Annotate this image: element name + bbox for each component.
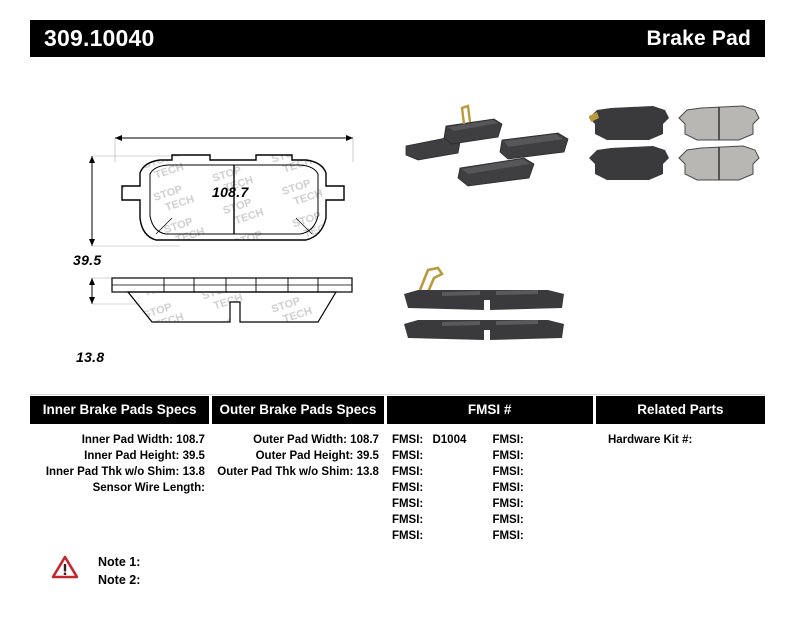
fmsi-value xyxy=(524,530,530,542)
fmsi-row: FMSI: xyxy=(392,512,493,528)
spec-label: Inner Pad Height: xyxy=(84,450,179,462)
fmsi-label: FMSI: xyxy=(492,466,523,478)
fmsi-column-right: FMSI: FMSI: FMSI: FMSI: FMSI: xyxy=(492,432,593,544)
fmsi-value xyxy=(524,450,530,462)
fmsi-row: FMSI: xyxy=(492,512,593,528)
dimension-label-width: 108.7 xyxy=(212,184,249,200)
fmsi-row: FMSI: xyxy=(392,448,493,464)
fmsi-label: FMSI: xyxy=(392,434,423,446)
fmsi-row: FMSI: xyxy=(492,496,593,512)
spec-label: Outer Pad Height: xyxy=(256,450,354,462)
fmsi-row: FMSI: xyxy=(392,464,493,480)
fmsi-row: FMSI: xyxy=(492,528,593,544)
spec-value: 108.7 xyxy=(176,434,205,446)
column-header-outer-specs: Outer Brake Pads Specs xyxy=(212,396,383,424)
notes-section: Note 1: Note 2: xyxy=(52,553,140,589)
fmsi-label: FMSI: xyxy=(392,466,423,478)
notes-text: Note 1: Note 2: xyxy=(98,553,140,589)
spec-row: Inner Pad Width: 108.7 xyxy=(30,432,205,448)
table-top-divider xyxy=(30,394,765,395)
fmsi-value xyxy=(524,466,530,478)
fmsi-row: FMSI: xyxy=(492,480,593,496)
spec-row: Outer Pad Width: 108.7 xyxy=(212,432,379,448)
fmsi-label: FMSI: xyxy=(392,450,423,462)
spec-label: Inner Pad Thk w/o Shim: xyxy=(46,466,180,478)
fmsi-value xyxy=(423,530,429,542)
side-view-drawing xyxy=(60,260,405,355)
fmsi-column-left: FMSI: D1004 FMSI: FMSI: FMSI: FMSI: xyxy=(392,432,493,544)
header-bar: 309.10040 Brake Pad xyxy=(30,20,765,57)
spec-value: 39.5 xyxy=(357,450,379,462)
spec-value: 108.7 xyxy=(350,434,379,446)
hardware-kit-label: Hardware Kit #: xyxy=(608,434,692,446)
inner-specs-cell: Inner Pad Width: 108.7 Inner Pad Height:… xyxy=(30,432,209,544)
fmsi-row: FMSI: xyxy=(392,496,493,512)
spec-row: Inner Pad Height: 39.5 xyxy=(30,448,205,464)
column-header-fmsi: FMSI # xyxy=(387,396,593,424)
fmsi-value xyxy=(423,514,429,526)
spec-row: Outer Pad Height: 39.5 xyxy=(212,448,379,464)
spec-row: Outer Pad Thk w/o Shim: 13.8 xyxy=(212,464,379,480)
fmsi-label: FMSI: xyxy=(492,450,523,462)
fmsi-label: FMSI: xyxy=(392,530,423,542)
warning-triangle-icon xyxy=(52,555,78,579)
product-photo-edge xyxy=(398,256,578,356)
note-2: Note 2: xyxy=(98,571,140,589)
fmsi-row: FMSI: D1004 xyxy=(392,432,493,448)
fmsi-label: FMSI: xyxy=(392,498,423,510)
fmsi-value xyxy=(524,498,530,510)
dimension-label-thickness: 13.8 xyxy=(76,349,104,365)
fmsi-value xyxy=(524,434,530,446)
note-1: Note 1: xyxy=(98,553,140,571)
spec-label: Outer Pad Width: xyxy=(253,434,347,446)
fmsi-label: FMSI: xyxy=(492,498,523,510)
column-header-inner-specs: Inner Brake Pads Specs xyxy=(30,396,209,424)
column-header-related-parts: Related Parts xyxy=(596,396,765,424)
fmsi-value xyxy=(423,482,429,494)
related-parts-cell: Hardware Kit #: xyxy=(596,432,765,544)
fmsi-label: FMSI: xyxy=(492,514,523,526)
spec-row: Inner Pad Thk w/o Shim: 13.8 xyxy=(30,464,205,480)
fmsi-value xyxy=(423,498,429,510)
fmsi-row: FMSI: xyxy=(392,480,493,496)
fmsi-row: FMSI: xyxy=(492,432,593,448)
spec-value: 13.8 xyxy=(183,466,205,478)
product-type-label: Brake Pad xyxy=(646,27,751,51)
fmsi-label: FMSI: xyxy=(492,482,523,494)
related-parts-row: Hardware Kit #: xyxy=(608,432,765,448)
fmsi-value xyxy=(524,514,530,526)
fmsi-cell: FMSI: D1004 FMSI: FMSI: FMSI: FMSI: xyxy=(386,432,593,544)
spec-label: Inner Pad Width: xyxy=(82,434,173,446)
fmsi-row: FMSI: xyxy=(392,528,493,544)
spec-value: 13.8 xyxy=(357,466,379,478)
fmsi-label: FMSI: xyxy=(492,530,523,542)
spec-label: Sensor Wire Length: xyxy=(93,482,205,494)
fmsi-row: FMSI: xyxy=(492,448,593,464)
outer-specs-cell: Outer Pad Width: 108.7 Outer Pad Height:… xyxy=(212,432,383,544)
table-body-row: Inner Pad Width: 108.7 Inner Pad Height:… xyxy=(30,424,765,544)
fmsi-value xyxy=(423,466,429,478)
product-photo-angled xyxy=(398,98,578,188)
fmsi-row: FMSI: xyxy=(492,464,593,480)
part-number: 309.10040 xyxy=(44,25,155,52)
fmsi-value: D1004 xyxy=(426,434,466,446)
spec-value: 39.5 xyxy=(183,450,205,462)
spec-row: Sensor Wire Length: xyxy=(30,480,205,496)
fmsi-value xyxy=(423,450,429,462)
spec-table: Inner Brake Pads Specs Outer Brake Pads … xyxy=(30,396,765,544)
fmsi-value xyxy=(524,482,530,494)
spec-label: Outer Pad Thk w/o Shim: xyxy=(217,466,353,478)
drawing-area: STOP TECH 108.7 39.5 xyxy=(0,60,800,390)
fmsi-label: FMSI: xyxy=(392,514,423,526)
table-header-row: Inner Brake Pads Specs Outer Brake Pads … xyxy=(30,396,765,424)
fmsi-label: FMSI: xyxy=(392,482,423,494)
fmsi-label: FMSI: xyxy=(492,434,523,446)
product-photo-grid xyxy=(583,98,768,186)
